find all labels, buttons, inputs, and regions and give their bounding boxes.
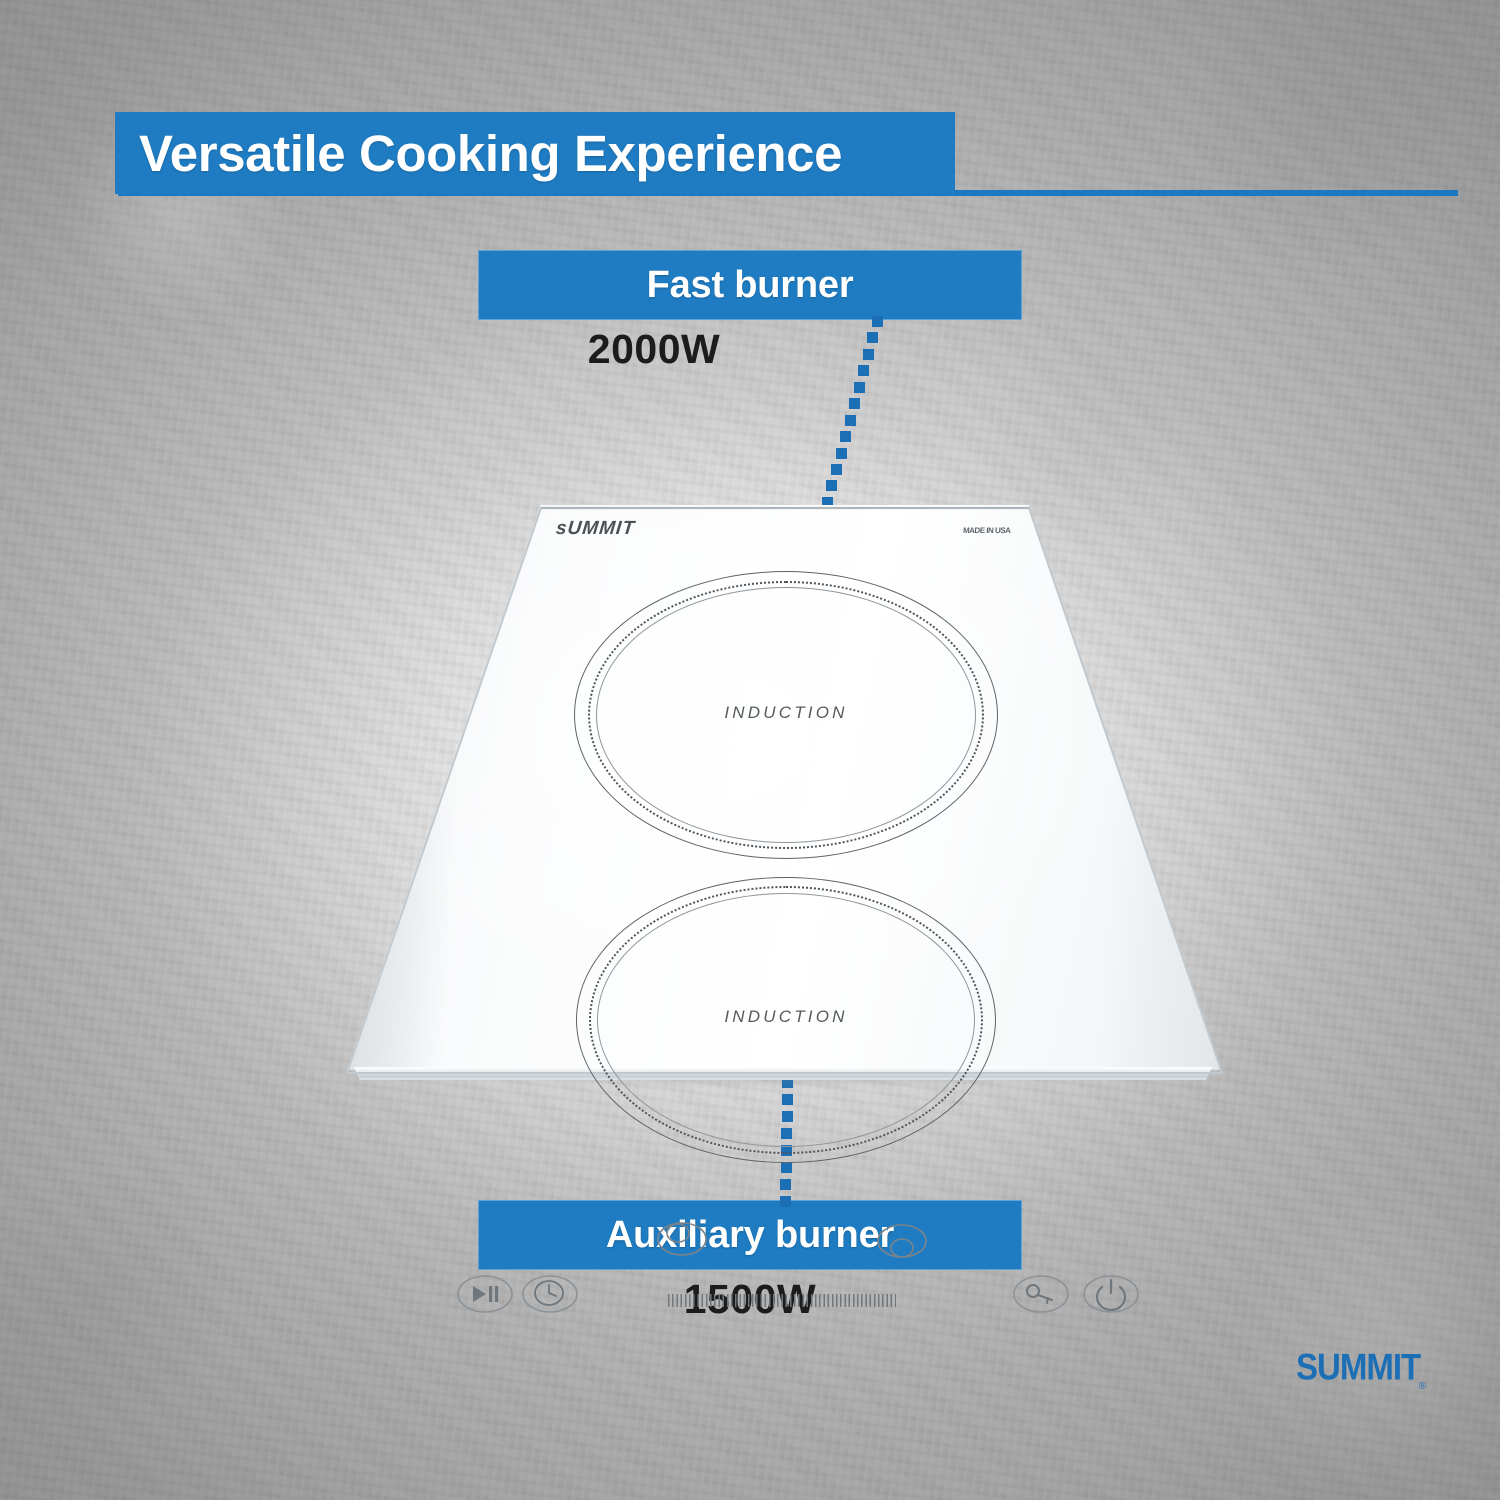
burner-zone-upper: INDUCTION — [574, 571, 998, 859]
burner-label-upper: INDUCTION — [574, 703, 998, 723]
summit-logo-text: SUMMIT — [1296, 1348, 1424, 1386]
callout-fast-burner: Fast burner 2000W — [478, 250, 1022, 373]
cooktop-brand-mark: sUMMIT — [555, 518, 636, 540]
page-title-banner: Versatile Cooking Experience — [115, 112, 955, 194]
callout-auxiliary-burner-band: Auxiliary burner — [478, 1200, 1022, 1270]
callout-fast-burner-band: Fast burner — [478, 250, 1022, 320]
cooktop-origin-mark: MADE IN USA — [963, 527, 1011, 535]
play-pause-icon[interactable] — [456, 1273, 514, 1315]
callout-auxiliary-burner-label: Auxiliary burner — [606, 1214, 894, 1257]
summit-logo: SUMMIT ® — [1296, 1350, 1424, 1396]
power-icon[interactable] — [1082, 1273, 1140, 1315]
burner-zone-icon-left[interactable] — [656, 1215, 708, 1259]
key-lock-icon[interactable] — [1012, 1273, 1070, 1315]
marketing-image: Versatile Cooking Experience Fast burner… — [0, 0, 1500, 1500]
page-title: Versatile Cooking Experience — [115, 124, 842, 183]
clock-icon[interactable] — [521, 1273, 579, 1315]
summit-logo-trademark: ® — [1419, 1381, 1426, 1392]
callout-fast-burner-label: Fast burner — [647, 264, 854, 307]
burner-label-lower: INDUCTION — [576, 1007, 996, 1027]
induction-cooktop: sUMMIT MADE IN USA INDUCTION INDUCTION — [338, 505, 1228, 1100]
callout-fast-burner-wattage: 2000W — [478, 326, 830, 373]
slider-icon[interactable] — [668, 1294, 896, 1307]
burner-zone-icon-right[interactable] — [876, 1221, 928, 1265]
burner-zone-lower: INDUCTION — [576, 877, 996, 1163]
